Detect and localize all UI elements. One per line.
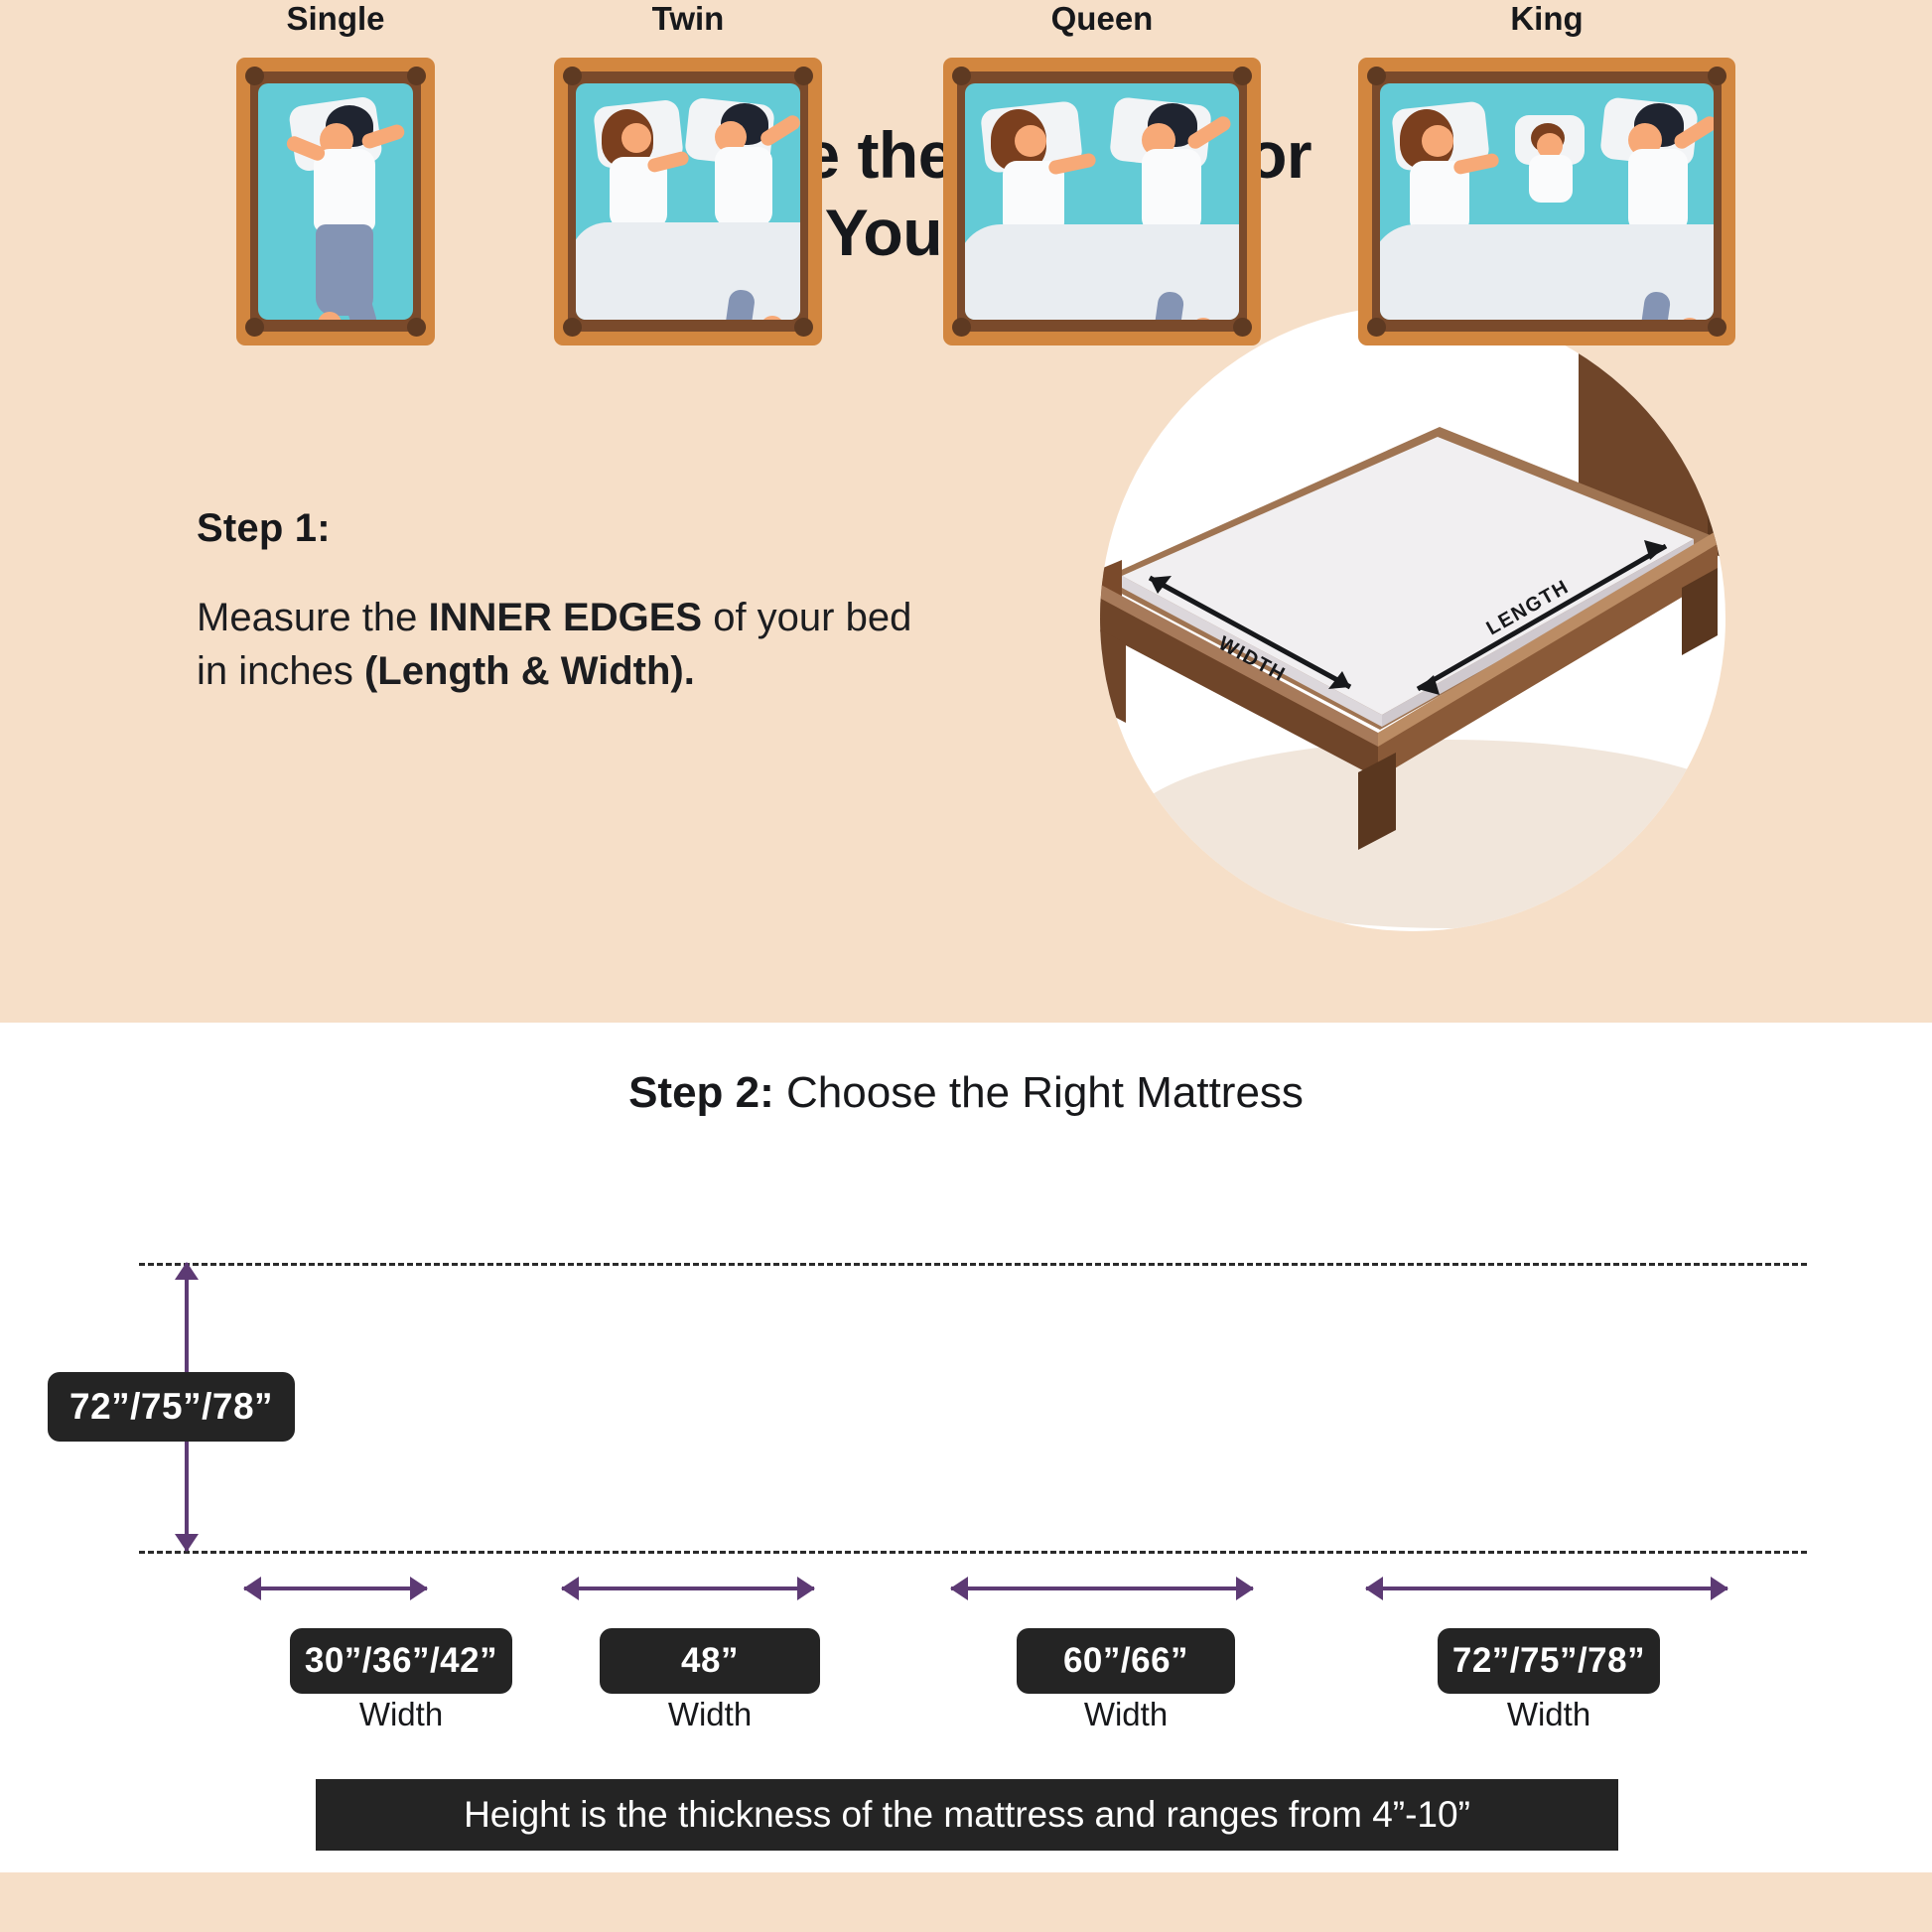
mattress-surface xyxy=(576,83,800,320)
width-badge-queen: 60”/66” xyxy=(1017,1628,1235,1694)
step1-description: Measure the INNER EDGES of your bed in i… xyxy=(197,591,951,698)
width-badge-single: 30”/36”/42” xyxy=(290,1628,512,1694)
frame-knob xyxy=(407,318,426,337)
headboard-side xyxy=(1708,320,1729,561)
torso-man xyxy=(1142,149,1201,232)
width-label-queen: Width xyxy=(1017,1696,1235,1733)
frame-knob xyxy=(407,67,426,85)
width-label-single: Width xyxy=(290,1696,512,1733)
frame-knob xyxy=(952,67,971,85)
step2-heading: Step 2: Choose the Right Mattress xyxy=(0,1068,1932,1118)
guide-line-top xyxy=(139,1263,1807,1266)
mattress-single[interactable] xyxy=(236,58,435,345)
face-woman xyxy=(1015,125,1046,157)
bed-name-twin: Twin xyxy=(554,0,822,38)
step1-text-part1: Measure the xyxy=(197,596,428,639)
footer-note-text: Height is the thickness of the mattress … xyxy=(464,1794,1470,1836)
duvet xyxy=(965,224,1239,320)
frame-knob xyxy=(794,67,813,85)
guide-line-bottom xyxy=(139,1551,1807,1554)
frame-knob xyxy=(1708,318,1726,337)
width-arrow-queen xyxy=(951,1587,1253,1590)
bed-name-queen: Queen xyxy=(943,0,1261,38)
frame-knob xyxy=(1367,67,1386,85)
duvet xyxy=(576,222,800,320)
mattress-surface xyxy=(258,83,413,320)
footer-strip xyxy=(0,1872,1932,1932)
face-woman xyxy=(621,123,651,153)
infographic-page: Ensure the Best Fit for Your Bed Step 1:… xyxy=(0,0,1932,1932)
frame-knob xyxy=(245,67,264,85)
torso-man xyxy=(715,147,772,226)
height-badge: 72”/75”/78” xyxy=(48,1372,295,1442)
width-label-twin: Width xyxy=(600,1696,820,1733)
mattress-king[interactable] xyxy=(1358,58,1735,345)
step1-block: Step 1: Measure the INNER EDGES of your … xyxy=(197,506,951,698)
width-arrow-king xyxy=(1366,1587,1727,1590)
step1-emphasis-inner-edges: INNER EDGES xyxy=(428,596,702,639)
width-label-king: Width xyxy=(1438,1696,1660,1733)
torso-man xyxy=(1628,149,1688,232)
step2-text: Choose the Right Mattress xyxy=(774,1068,1304,1117)
mattress-surface xyxy=(1380,83,1714,320)
step2-label: Step 2: xyxy=(628,1068,774,1117)
frame-knob xyxy=(1233,318,1252,337)
width-badge-twin: 48” xyxy=(600,1628,820,1694)
bed-perspective-illustration: WIDTH LENGTH xyxy=(1023,278,1817,973)
face-woman xyxy=(1422,125,1453,157)
footer-note-bar: Height is the thickness of the mattress … xyxy=(316,1779,1618,1851)
mattress-twin[interactable] xyxy=(554,58,822,345)
step2-section xyxy=(0,1023,1932,1872)
width-arrow-twin xyxy=(562,1587,814,1590)
step1-emphasis-length-width: (Length & Width). xyxy=(364,649,695,693)
frame-knob xyxy=(1367,318,1386,337)
bed-shadow xyxy=(1122,740,1777,928)
step1-label: Step 1: xyxy=(197,506,951,551)
frame-knob xyxy=(1708,67,1726,85)
mattress-surface xyxy=(965,83,1239,320)
frame-knob xyxy=(245,318,264,337)
frame-knob xyxy=(563,318,582,337)
width-badge-king: 72”/75”/78” xyxy=(1438,1628,1660,1694)
mattress-queen[interactable] xyxy=(943,58,1261,345)
torso xyxy=(314,149,375,232)
bed-name-single: Single xyxy=(236,0,435,38)
torso-baby xyxy=(1529,155,1573,203)
frame-knob xyxy=(1233,67,1252,85)
frame-knob xyxy=(952,318,971,337)
bed-name-king: King xyxy=(1358,0,1735,38)
frame-knob xyxy=(794,318,813,337)
frame-knob xyxy=(563,67,582,85)
width-arrow-single xyxy=(244,1587,427,1590)
